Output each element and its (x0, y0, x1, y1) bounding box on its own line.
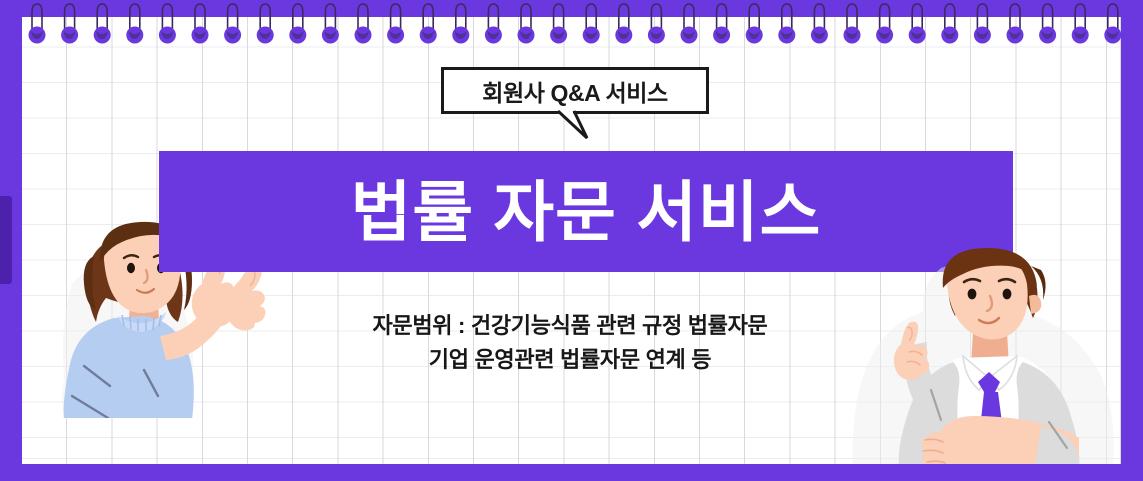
title-banner: 법률 자문 서비스 (159, 151, 1013, 272)
speech-bubble: 회원사 Q&A 서비스 (441, 67, 709, 114)
page-tab-marker (0, 196, 12, 284)
scope-line-2: 기업 운영관련 법률자문 연계 등 (240, 343, 900, 377)
scope-description: 자문범위 : 건강기능식품 관련 규정 법률자문 기업 운영관련 법률자문 연계… (240, 309, 900, 377)
speech-bubble-label: 회원사 Q&A 서비스 (482, 74, 668, 108)
poster-canvas: 법률 자문 서비스 회원사 Q&A 서비스 자문범위 : 건강기능식품 관련 규… (0, 0, 1143, 481)
speech-bubble-tail-icon (556, 110, 606, 140)
frame-right-bar (1121, 0, 1143, 481)
frame-bottom-bar (0, 464, 1143, 481)
page-title: 법률 자문 서비스 (351, 179, 822, 245)
frame-top-bar (0, 0, 1143, 17)
scope-line-1: 자문범위 : 건강기능식품 관련 규정 법률자문 (240, 309, 900, 343)
